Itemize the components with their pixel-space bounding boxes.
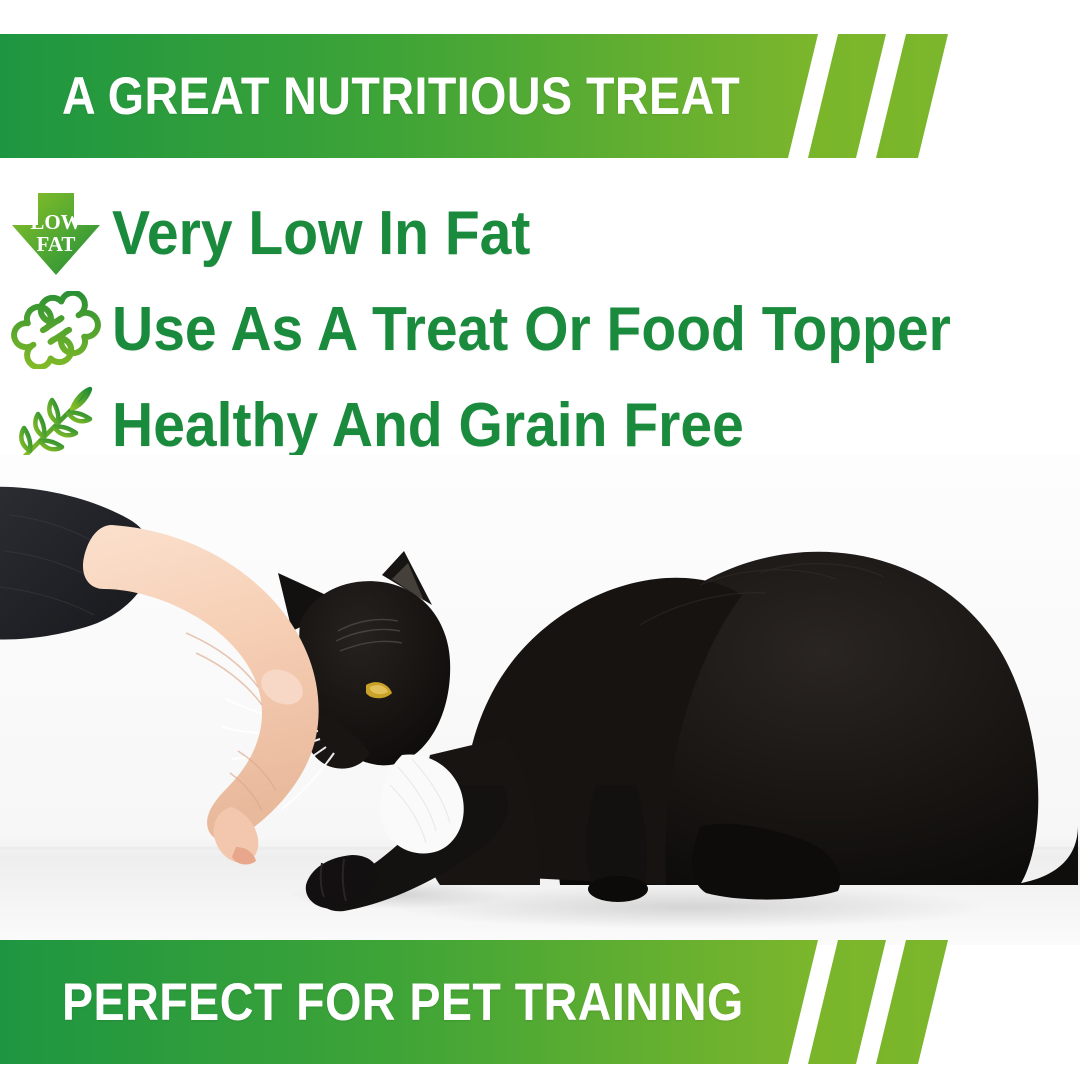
cat-and-hand-illustration	[0, 455, 1080, 945]
bottom-banner-slash-2	[876, 940, 948, 1064]
bottom-banner-text: PERFECT FOR PET TRAINING	[62, 940, 744, 1064]
cat	[222, 551, 1078, 911]
feature-row-low-fat: LOW FAT Very Low In Fat	[0, 186, 1080, 282]
feature-label-grain-free: Healthy And Grain Free	[112, 395, 744, 457]
top-banner-slash-1	[808, 34, 886, 158]
low-fat-arrow-glyph: LOW FAT	[8, 191, 104, 277]
bone-icon	[0, 282, 112, 378]
feature-list: LOW FAT Very Low In Fat	[0, 186, 1080, 474]
feature-label-treat-topper: Use As A Treat Or Food Topper	[112, 299, 951, 361]
product-photo	[0, 455, 1080, 945]
top-banner: A GREAT NUTRITIOUS TREAT	[0, 34, 1080, 158]
top-banner-slash-2	[876, 34, 948, 158]
bone-glyph	[7, 291, 105, 369]
feature-label-low-fat: Very Low In Fat	[112, 203, 530, 265]
low-fat-icon-line1: LOW	[30, 210, 81, 234]
feature-row-treat-topper: Use As A Treat Or Food Topper	[0, 282, 1080, 378]
product-feature-graphic: A GREAT NUTRITIOUS TREAT LOW FAT	[0, 0, 1080, 1080]
cat-front-paw-standing	[588, 876, 648, 902]
top-banner-text: A GREAT NUTRITIOUS TREAT	[62, 34, 740, 158]
low-fat-arrow-icon: LOW FAT	[0, 186, 112, 282]
bottom-banner: PERFECT FOR PET TRAINING	[0, 940, 1080, 1064]
bottom-banner-slash-1	[808, 940, 886, 1064]
low-fat-icon-line2: FAT	[37, 232, 76, 256]
